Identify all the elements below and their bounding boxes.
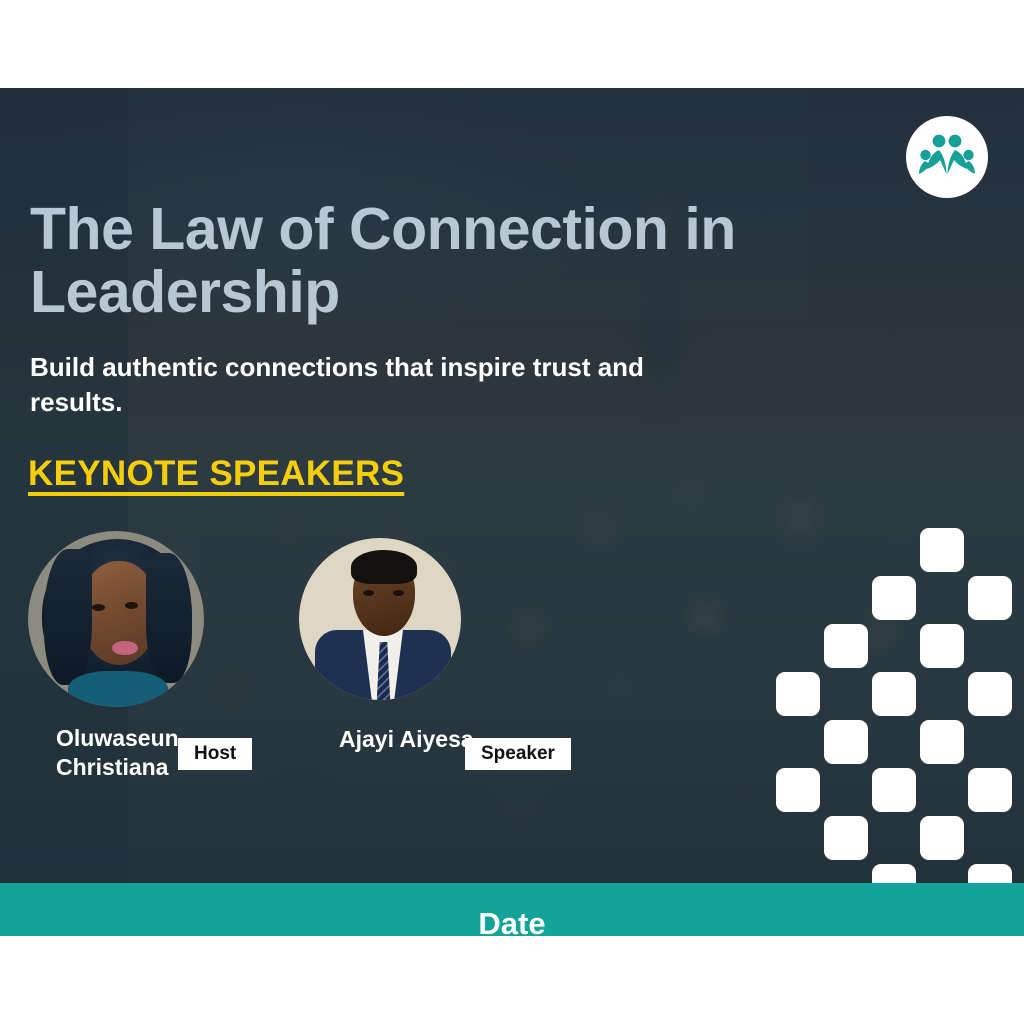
brand-logo (906, 116, 988, 198)
flyer-canvas: The Law of Connection in Leadership Buil… (0, 0, 1024, 1024)
avatar-hair (351, 550, 417, 584)
checker-square (872, 768, 916, 812)
checker-square (920, 624, 964, 668)
checker-square (920, 720, 964, 764)
avatar-hair-right (146, 553, 192, 683)
speaker-name-ajayi-aiyesa: Ajayi Aiyesa (339, 725, 559, 754)
checker-square (968, 576, 1012, 620)
speaker-avatar-oluwaseun-christiana (28, 531, 204, 707)
checker-square (872, 576, 916, 620)
checker-square (824, 720, 868, 764)
checker-square (872, 672, 916, 716)
speaker-name-line-1: Oluwaseun (56, 724, 256, 753)
speaker-name-line-2: Christiana (56, 753, 256, 782)
avatar-eye-left (363, 590, 374, 596)
checker-square (920, 528, 964, 572)
avatar-shoulders (68, 671, 168, 707)
checker-square (776, 672, 820, 716)
speaker-avatar-ajayi-aiyesa (299, 538, 461, 700)
avatar-hair-left (44, 549, 92, 685)
date-footer-band: Date March 21, 2026 (0, 883, 1024, 936)
checker-square (824, 816, 868, 860)
event-flyer: The Law of Connection in Leadership Buil… (0, 88, 1024, 936)
community-people-logo-icon (918, 131, 976, 183)
checker-square (968, 768, 1012, 812)
flyer-subtitle: Build authentic connections that inspire… (30, 350, 720, 419)
checker-square (968, 672, 1012, 716)
keynote-speakers-heading: KEYNOTE SPEAKERS (28, 454, 404, 494)
avatar-lips (112, 641, 138, 655)
avatar-eye-right (393, 590, 404, 596)
avatar-eye-left (92, 604, 105, 611)
checker-square (920, 816, 964, 860)
avatar-eye-right (125, 602, 138, 609)
flyer-title: The Law of Connection in Leadership (30, 198, 830, 323)
checker-square (776, 768, 820, 812)
checkerboard-decoration (776, 528, 1024, 896)
date-label: Date (0, 906, 1024, 936)
checker-square (824, 624, 868, 668)
speaker-name-oluwaseun-christiana: Oluwaseun Christiana (56, 724, 256, 782)
